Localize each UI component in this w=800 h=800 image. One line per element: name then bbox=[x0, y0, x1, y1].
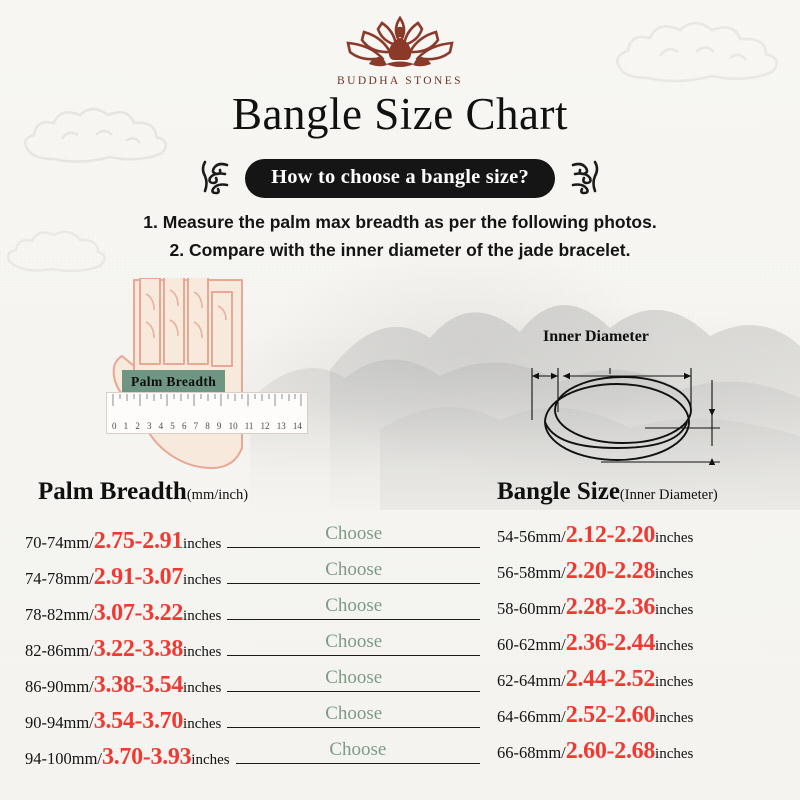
bangle-inch-range: 2.52-2.60 bbox=[566, 702, 655, 729]
ruler-tick-3: 3 bbox=[147, 421, 152, 431]
bangle-mm-range: 66-68mm/ bbox=[497, 743, 566, 763]
bangle-illustration: Inner Diameter bbox=[505, 328, 740, 473]
table-row: 82-86mm/ 3.22-3.38 inches Choose bbox=[25, 630, 480, 666]
bangle-unit: inches bbox=[655, 638, 693, 655]
size-chart-page: BUDDHA STONES Bangle Size Chart How to c… bbox=[0, 0, 800, 800]
table-row: 86-90mm/ 3.38-3.54 inches Choose bbox=[25, 666, 480, 702]
palm-unit: inches bbox=[191, 752, 229, 769]
bangle-unit: inches bbox=[655, 602, 693, 619]
inner-diameter-caption: Inner Diameter bbox=[543, 328, 649, 346]
palm-inch-range: 3.70-3.93 bbox=[102, 744, 191, 771]
palm-table-title: Palm Breadth(mm/inch) bbox=[38, 478, 248, 506]
instructions: 1. Measure the palm max breadth as per t… bbox=[0, 208, 800, 265]
ruler-tick-6: 6 bbox=[182, 421, 187, 431]
brand-logo: BUDDHA STONES bbox=[0, 12, 800, 87]
table-row: 62-64mm/ 2.44-2.52 inches bbox=[497, 666, 797, 702]
bangle-unit: inches bbox=[655, 530, 693, 547]
ruler-tick-0: 0 bbox=[112, 421, 117, 431]
ruler-numbers: 0 1 2 3 4 5 6 7 8 9 10 11 12 13 14 bbox=[107, 421, 307, 431]
palm-mm-range: 74-78mm/ bbox=[25, 569, 94, 589]
ruler-tick-13: 13 bbox=[277, 421, 286, 431]
choose-field[interactable]: Choose bbox=[227, 666, 480, 692]
ruler-tick-11: 11 bbox=[245, 421, 254, 431]
ruler-illustration: 0 1 2 3 4 5 6 7 8 9 10 11 12 13 14 bbox=[106, 392, 308, 434]
ruler-tick-10: 10 bbox=[229, 421, 238, 431]
palm-unit: inches bbox=[183, 536, 221, 553]
choose-field[interactable]: Choose bbox=[227, 630, 480, 656]
table-row: 56-58mm/ 2.20-2.28 inches bbox=[497, 558, 797, 594]
choose-field[interactable]: Choose bbox=[227, 522, 480, 548]
choose-field[interactable]: Choose bbox=[227, 558, 480, 584]
table-row: 58-60mm/ 2.28-2.36 inches bbox=[497, 594, 797, 630]
table-row: 66-68mm/ 2.60-2.68 inches bbox=[497, 738, 797, 774]
bangle-inch-range: 2.60-2.68 bbox=[566, 738, 655, 765]
palm-mm-range: 86-90mm/ bbox=[25, 677, 94, 697]
page-title: Bangle Size Chart bbox=[0, 88, 800, 140]
palm-mm-range: 90-94mm/ bbox=[25, 713, 94, 733]
instruction-line-2: 2. Compare with the inner diameter of th… bbox=[0, 236, 800, 264]
swirl-flourish-icon-left bbox=[197, 158, 231, 198]
bangle-inch-range: 2.28-2.36 bbox=[566, 594, 655, 621]
bangle-unit: inches bbox=[655, 674, 693, 691]
bangle-mm-range: 60-62mm/ bbox=[497, 635, 566, 655]
table-row: 64-66mm/ 2.52-2.60 inches bbox=[497, 702, 797, 738]
table-row: 78-82mm/ 3.07-3.22 inches Choose bbox=[25, 594, 480, 630]
ruler-tick-8: 8 bbox=[205, 421, 210, 431]
palm-inch-range: 3.22-3.38 bbox=[94, 636, 183, 663]
choose-field[interactable]: Choose bbox=[227, 594, 480, 620]
palm-mm-range: 78-82mm/ bbox=[25, 605, 94, 625]
bangle-unit: inches bbox=[655, 710, 693, 727]
bangle-table-title: Bangle Size(Inner Diameter) bbox=[497, 478, 718, 506]
palm-unit: inches bbox=[183, 572, 221, 589]
palm-mm-range: 70-74mm/ bbox=[25, 533, 94, 553]
bangle-mm-range: 64-66mm/ bbox=[497, 707, 566, 727]
choose-label: Choose bbox=[325, 631, 382, 653]
palm-mm-range: 82-86mm/ bbox=[25, 641, 94, 661]
how-to-choose-pill: How to choose a bangle size? bbox=[245, 159, 555, 198]
ruler-tick-9: 9 bbox=[217, 421, 222, 431]
bangle-ring-icon bbox=[505, 350, 740, 475]
table-row: 90-94mm/ 3.54-3.70 inches Choose bbox=[25, 702, 480, 738]
choose-label: Choose bbox=[325, 559, 382, 581]
swirl-flourish-icon-right bbox=[569, 158, 603, 198]
lotus-meditation-icon bbox=[338, 12, 462, 74]
bangle-unit: inches bbox=[655, 566, 693, 583]
palm-inch-range: 3.54-3.70 bbox=[94, 708, 183, 735]
instruction-line-1: 1. Measure the palm max breadth as per t… bbox=[0, 208, 800, 236]
hand-illustration: Palm Breadth 0 1 2 3 4 5 6 7 8 9 10 11 1… bbox=[100, 278, 330, 473]
palm-inch-range: 3.38-3.54 bbox=[94, 672, 183, 699]
brand-name: BUDDHA STONES bbox=[0, 75, 800, 87]
palm-inch-range: 2.75-2.91 bbox=[94, 528, 183, 555]
ruler-ticks bbox=[107, 394, 305, 412]
subtitle-row: How to choose a bangle size? bbox=[0, 158, 800, 198]
palm-unit: inches bbox=[183, 644, 221, 661]
palm-unit: inches bbox=[183, 608, 221, 625]
ruler-tick-12: 12 bbox=[261, 421, 270, 431]
palm-inch-range: 2.91-3.07 bbox=[94, 564, 183, 591]
palm-table-title-main: Palm Breadth bbox=[38, 478, 187, 505]
ruler-tick-7: 7 bbox=[194, 421, 199, 431]
bangle-table-title-sub: (Inner Diameter) bbox=[620, 487, 718, 503]
palm-unit: inches bbox=[183, 680, 221, 697]
choose-field[interactable]: Choose bbox=[227, 702, 480, 728]
bangle-mm-range: 54-56mm/ bbox=[497, 527, 566, 547]
bangle-inch-range: 2.20-2.28 bbox=[566, 558, 655, 585]
table-row: 74-78mm/ 2.91-3.07 inches Choose bbox=[25, 558, 480, 594]
choose-label: Choose bbox=[329, 739, 386, 761]
choose-label: Choose bbox=[325, 667, 382, 689]
table-row: 70-74mm/ 2.75-2.91 inches Choose bbox=[25, 522, 480, 558]
table-row: 54-56mm/ 2.12-2.20 inches bbox=[497, 522, 797, 558]
ruler-tick-2: 2 bbox=[135, 421, 140, 431]
table-row: 60-62mm/ 2.36-2.44 inches bbox=[497, 630, 797, 666]
bangle-mm-range: 62-64mm/ bbox=[497, 671, 566, 691]
ruler-tick-5: 5 bbox=[170, 421, 175, 431]
bangle-unit: inches bbox=[655, 746, 693, 763]
table-row: 94-100mm/ 3.70-3.93 inches Choose bbox=[25, 738, 480, 774]
bangle-inch-range: 2.44-2.52 bbox=[566, 666, 655, 693]
bangle-table-title-main: Bangle Size bbox=[497, 478, 620, 505]
palm-table-title-sub: (mm/inch) bbox=[187, 487, 248, 503]
bangle-inch-range: 2.12-2.20 bbox=[566, 522, 655, 549]
ruler-tick-4: 4 bbox=[159, 421, 164, 431]
palm-unit: inches bbox=[183, 716, 221, 733]
choose-label: Choose bbox=[325, 523, 382, 545]
choose-label: Choose bbox=[325, 703, 382, 725]
bangle-inch-range: 2.36-2.44 bbox=[566, 630, 655, 657]
ruler-tick-1: 1 bbox=[124, 421, 129, 431]
palm-mm-range: 94-100mm/ bbox=[25, 749, 102, 769]
choose-label: Choose bbox=[325, 595, 382, 617]
bangle-mm-range: 58-60mm/ bbox=[497, 599, 566, 619]
bangle-mm-range: 56-58mm/ bbox=[497, 563, 566, 583]
bangle-size-table: 54-56mm/ 2.12-2.20 inches 56-58mm/ 2.20-… bbox=[497, 522, 797, 774]
palm-breadth-table: 70-74mm/ 2.75-2.91 inches Choose 74-78mm… bbox=[25, 522, 480, 774]
ruler-tick-14: 14 bbox=[293, 421, 302, 431]
choose-field[interactable]: Choose bbox=[236, 738, 480, 764]
palm-inch-range: 3.07-3.22 bbox=[94, 600, 183, 627]
